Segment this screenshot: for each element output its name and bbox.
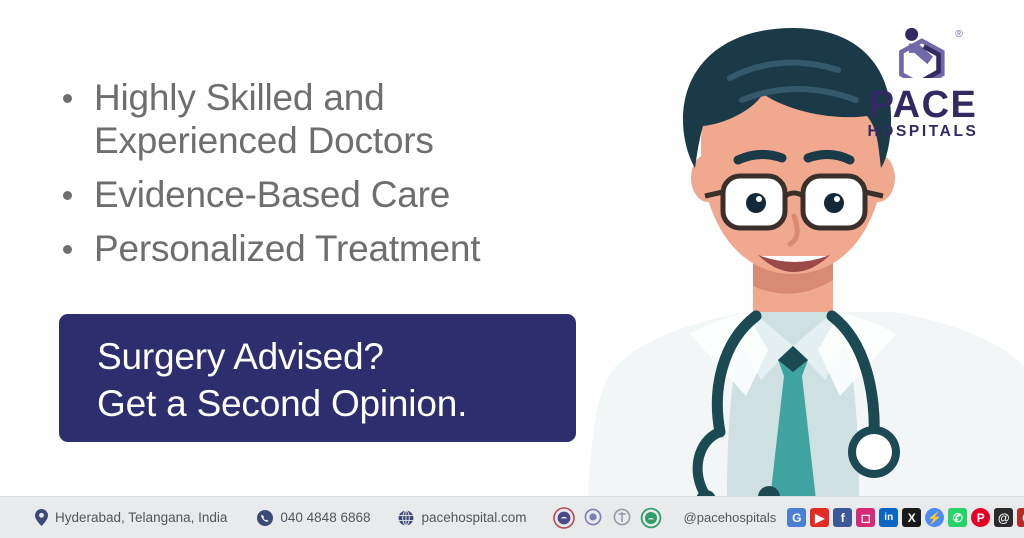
list-item-label: Highly Skilled and Experienced Doctors <box>94 77 434 161</box>
accreditation-badge-4-icon <box>640 507 662 529</box>
social-glyph: ◻ <box>861 512 871 524</box>
cta-banner: Surgery Advised? Get a Second Opinion. <box>59 314 576 442</box>
list-item: Personalized Treatment <box>58 227 598 270</box>
cta-line-1: Surgery Advised? <box>97 333 576 380</box>
messenger-icon[interactable]: ⚡ <box>925 508 944 527</box>
accreditation-badge-2-icon <box>582 507 604 529</box>
linkedin-icon[interactable]: in <box>879 508 898 527</box>
phone-icon <box>257 510 273 526</box>
youtube-icon[interactable]: ▶ <box>810 508 829 527</box>
footer-location: Hyderabad, Telangana, India <box>35 509 227 526</box>
social-links: G ▶ f ◻ in X ⚡ ✆ P <box>787 508 1024 527</box>
bullet-dot-icon <box>63 191 72 200</box>
cta-line-2: Get a Second Opinion. <box>97 380 576 427</box>
social-glyph: in <box>884 513 893 523</box>
pace-hexagon-person-icon: ® <box>881 26 965 78</box>
quora-icon[interactable]: Q <box>1017 508 1024 527</box>
footer-website-label: pacehospital.com <box>421 510 526 525</box>
brand-name: PACE <box>848 87 998 123</box>
map-pin-icon <box>35 509 48 526</box>
footer-website[interactable]: pacehospital.com <box>398 510 526 526</box>
brand-logo: ® PACE HOSPITALS <box>848 26 998 141</box>
social-glyph: f <box>841 512 845 524</box>
accreditation-badges <box>553 507 662 529</box>
brand-subtitle: HOSPITALS <box>848 123 998 141</box>
footer-phone-label: 040 4848 6868 <box>280 510 370 525</box>
footer-phone[interactable]: 040 4848 6868 <box>257 510 370 526</box>
social-glyph: P <box>977 512 985 524</box>
social-glyph: ⚡ <box>927 512 942 524</box>
social-glyph: X <box>908 512 916 524</box>
whatsapp-icon[interactable]: ✆ <box>948 508 967 527</box>
footer-location-label: Hyderabad, Telangana, India <box>55 510 227 525</box>
social-glyph: G <box>792 512 801 524</box>
threads-icon[interactable]: @ <box>994 508 1013 527</box>
accreditation-badge-3-icon <box>611 507 633 529</box>
list-item-label: Personalized Treatment <box>94 228 480 269</box>
globe-icon <box>398 510 414 526</box>
footer-bar: Hyderabad, Telangana, India 040 4848 686… <box>0 496 1024 538</box>
social-glyph: ▶ <box>815 512 824 524</box>
svg-text:®: ® <box>955 29 963 40</box>
bullet-dot-icon <box>63 245 72 254</box>
list-item: Evidence-Based Care <box>58 173 598 216</box>
advertisement-poster: Highly Skilled and Experienced Doctors E… <box>0 0 1024 538</box>
social-handle: @pacehospitals <box>684 510 777 525</box>
bullet-dot-icon <box>63 94 72 103</box>
google-business-icon[interactable]: G <box>787 508 806 527</box>
pinterest-icon[interactable]: P <box>971 508 990 527</box>
instagram-icon[interactable]: ◻ <box>856 508 875 527</box>
list-item: Highly Skilled and Experienced Doctors <box>58 76 598 162</box>
social-glyph: @ <box>998 512 1010 524</box>
accreditation-badge-1-icon <box>553 507 575 529</box>
social-glyph: ✆ <box>953 512 963 524</box>
benefits-list: Highly Skilled and Experienced Doctors E… <box>58 76 598 281</box>
facebook-icon[interactable]: f <box>833 508 852 527</box>
list-item-label: Evidence-Based Care <box>94 174 450 215</box>
x-twitter-icon[interactable]: X <box>902 508 921 527</box>
